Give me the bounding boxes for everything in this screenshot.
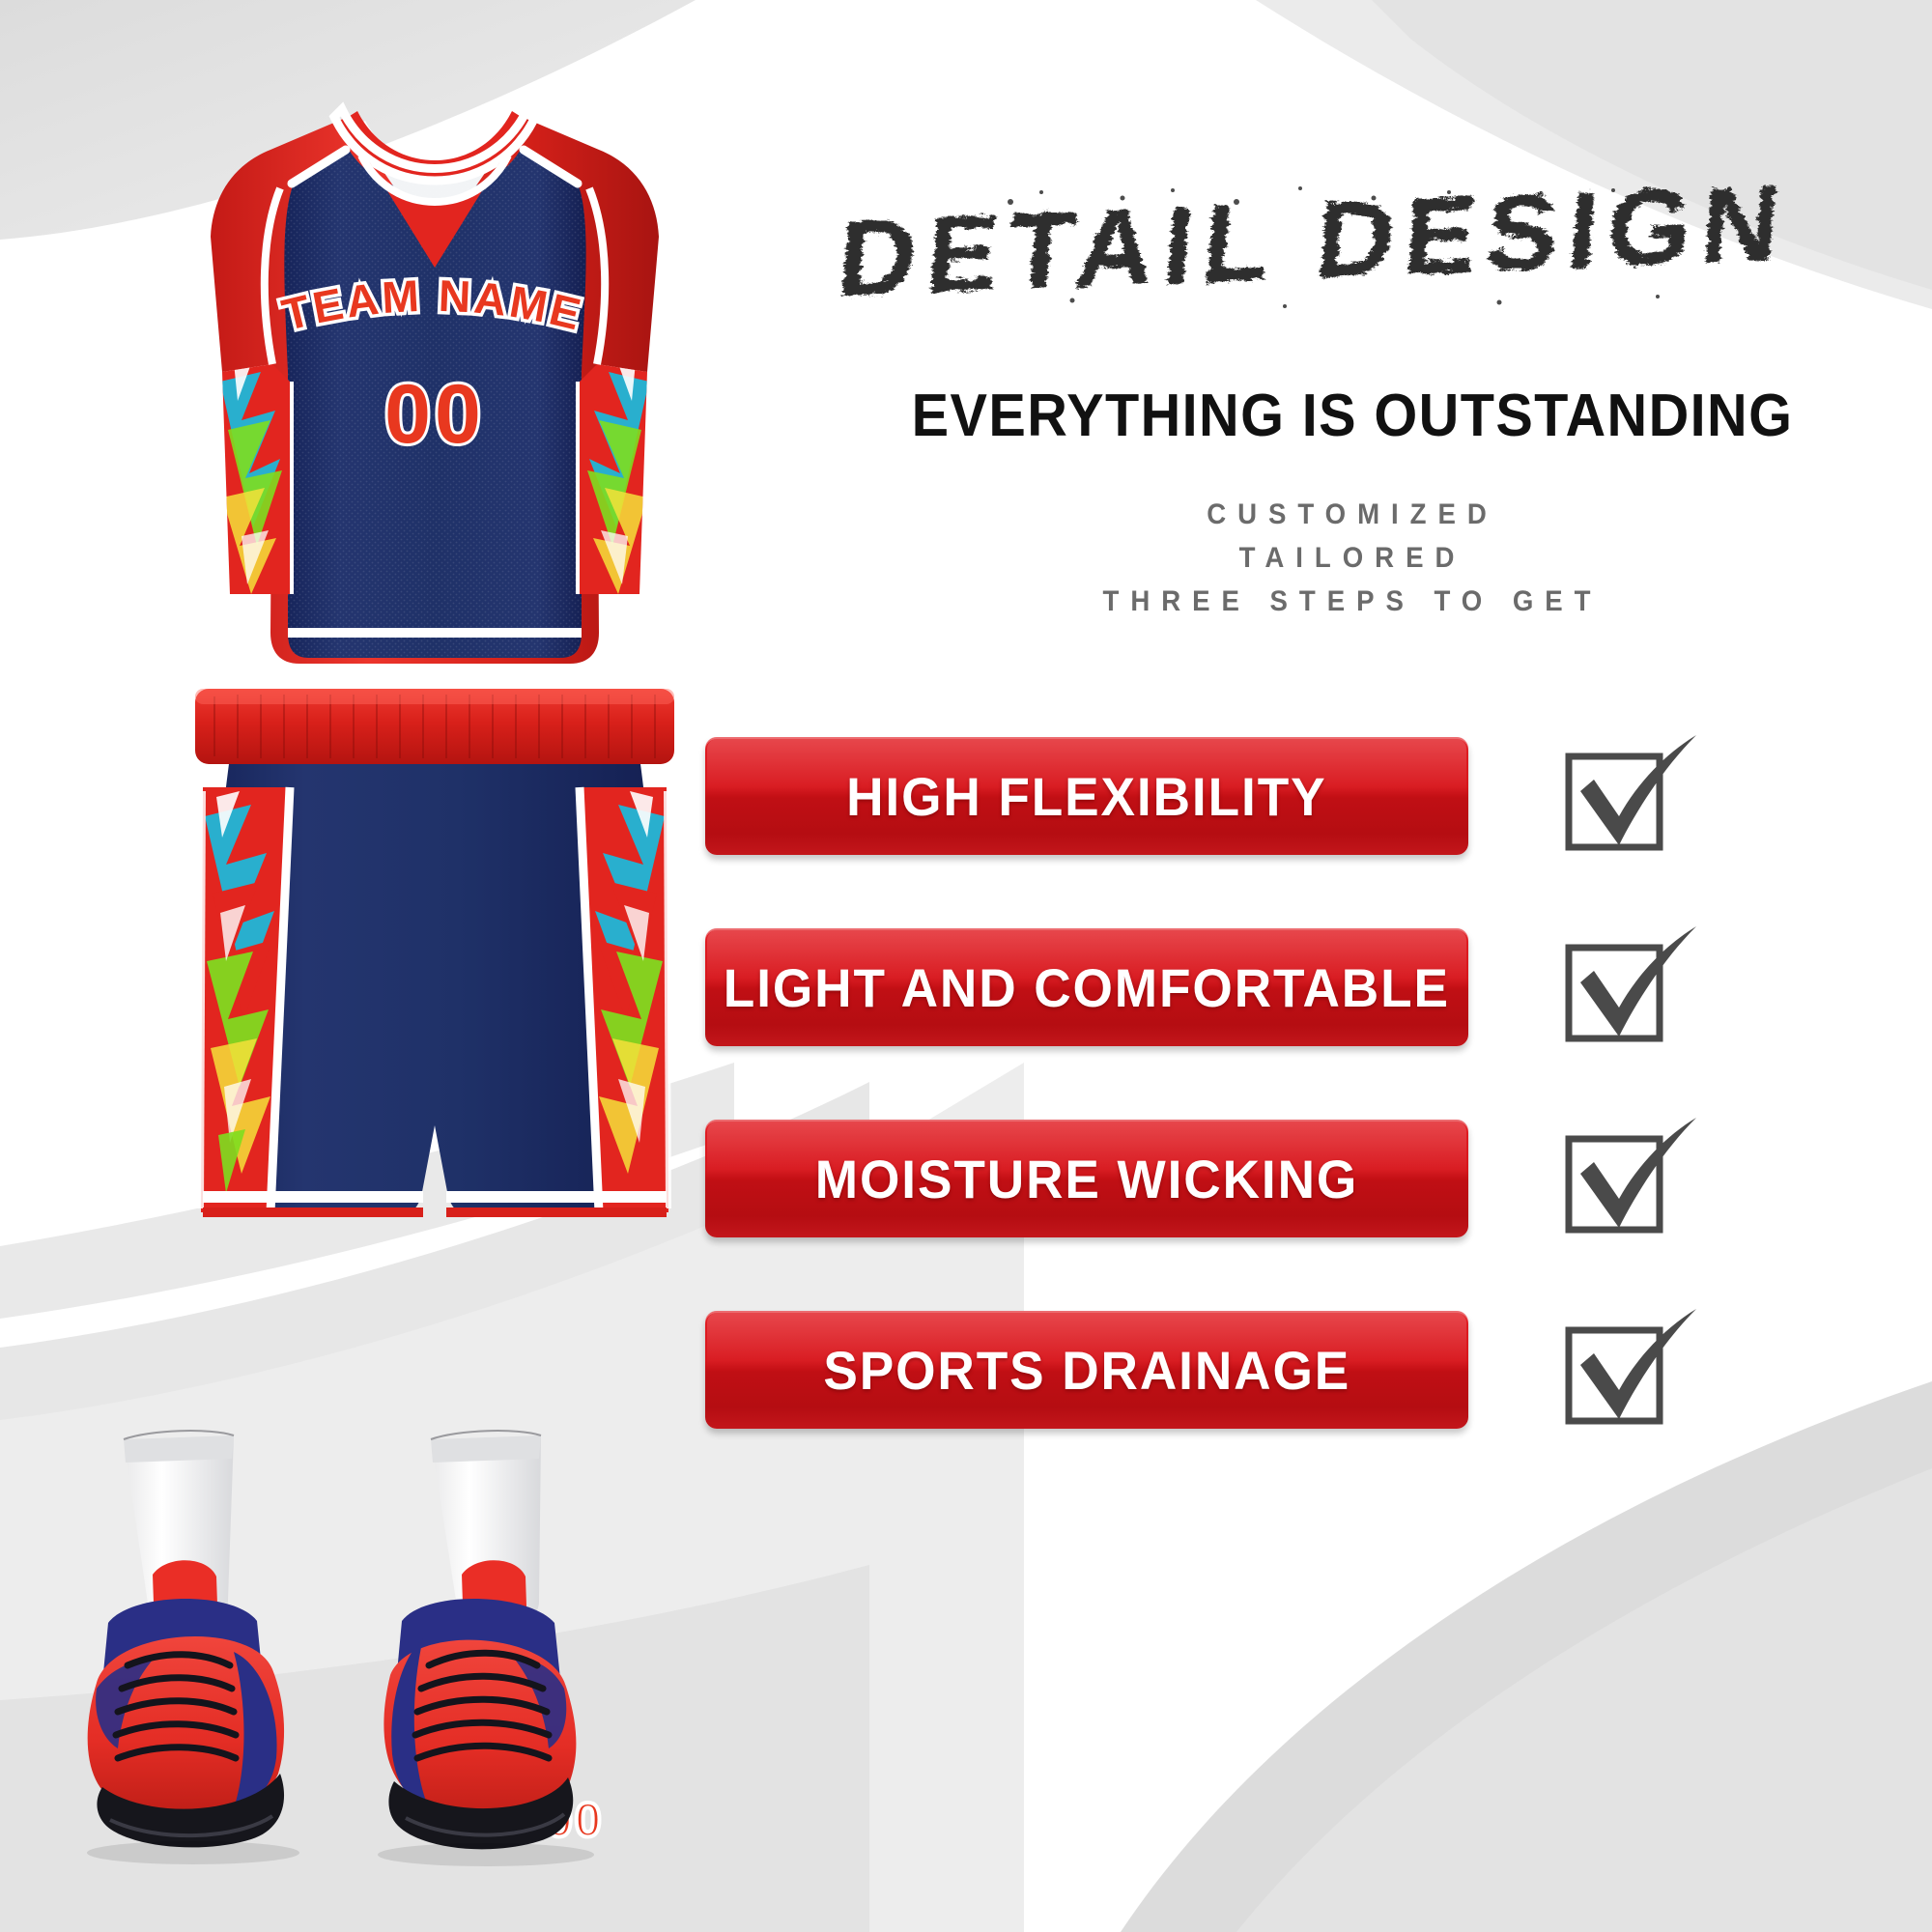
- basketball-uniform: TEAM NAME 00: [145, 92, 724, 1299]
- page-title: DETAIL DESIGN: [782, 169, 1864, 314]
- feature-banner-moisture-wicking[interactable]: MOISTURE WICKING: [705, 1120, 1468, 1237]
- feature-label: MOISTURE WICKING: [815, 1148, 1358, 1210]
- checkbox-checked-icon[interactable]: [1555, 1110, 1700, 1255]
- shorts-graphic: 00: [145, 671, 724, 1309]
- jersey-team-name: TEAM NAME: [201, 280, 665, 367]
- page-title-svg: DETAIL DESIGN: [782, 169, 1864, 314]
- checkbox-checked-icon[interactable]: [1555, 919, 1700, 1064]
- shoe-left: [87, 1431, 299, 1864]
- feature-banner-high-flexibility[interactable]: HIGH FLEXIBILITY: [705, 737, 1468, 855]
- feature-banner-light-and-comfortable[interactable]: LIGHT AND COMFORTABLE: [705, 928, 1468, 1046]
- shoes-graphic: [58, 1430, 676, 1874]
- feature-row: MOISTURE WICKING: [705, 1112, 1932, 1303]
- feature-banner-sports-drainage[interactable]: SPORTS DRAINAGE: [705, 1311, 1468, 1429]
- shoes-svg: [58, 1430, 676, 1874]
- shorts-svg: [145, 671, 724, 1309]
- jersey-number: 00: [145, 367, 724, 463]
- feature-label: LIGHT AND COMFORTABLE: [724, 956, 1450, 1019]
- jersey-graphic: TEAM NAME 00: [145, 92, 724, 768]
- jersey-number-text: 00: [384, 368, 485, 461]
- feature-list: HIGH FLEXIBILITY LIGHT AND COMFORTABLE: [705, 729, 1932, 1494]
- checkbox-checked-icon[interactable]: [1555, 1301, 1700, 1446]
- team-name-text: TEAM NAME: [277, 270, 588, 340]
- feature-label: SPORTS DRAINAGE: [823, 1339, 1350, 1402]
- sub-line-3: THREE STEPS TO GET: [802, 580, 1904, 623]
- feature-row: SPORTS DRAINAGE: [705, 1303, 1932, 1494]
- checkbox-checked-icon[interactable]: [1555, 727, 1700, 872]
- feature-row: LIGHT AND COMFORTABLE: [705, 921, 1932, 1112]
- poster-canvas: TEAM NAME 00: [0, 0, 1932, 1932]
- page-title-text: DETAIL DESIGN: [834, 169, 1794, 314]
- info-panel: DETAIL DESIGN EVERYTHING IS OUTSTANDING: [792, 0, 1932, 1932]
- sub-line-1: CUSTOMIZED: [802, 493, 1904, 536]
- shoe-right: [378, 1431, 594, 1866]
- sub-line-2: TAILORED: [802, 536, 1904, 580]
- sub-headline-block: CUSTOMIZED TAILORED THREE STEPS TO GET: [753, 493, 1932, 623]
- headline: EVERYTHING IS OUTSTANDING: [795, 382, 1909, 450]
- feature-label: HIGH FLEXIBILITY: [846, 765, 1326, 828]
- feature-row: HIGH FLEXIBILITY: [705, 729, 1932, 921]
